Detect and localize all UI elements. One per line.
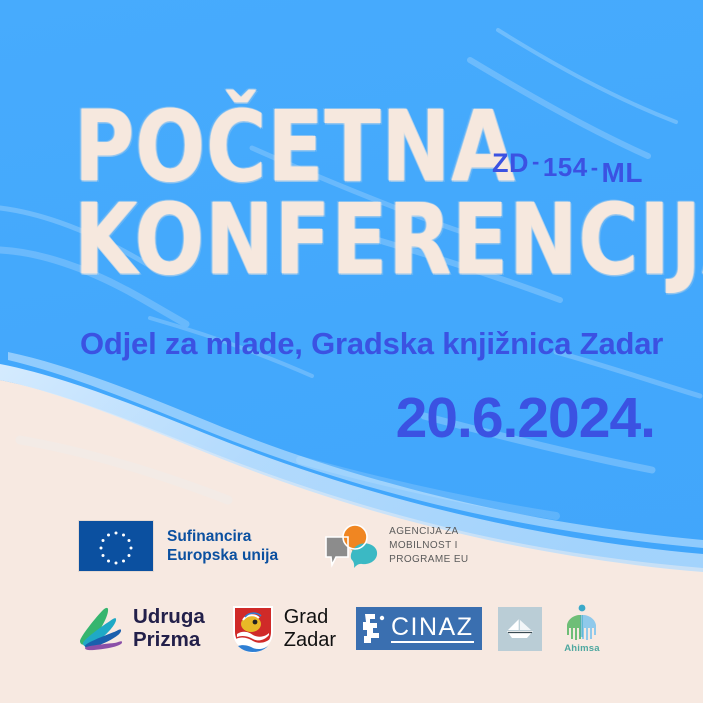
zadar-coat-of-arms-icon [231,604,275,654]
partner-prizma-line-2: Prizma [133,629,205,652]
ahimsa-label: Ahimsa [564,643,600,654]
project-code: ZD-154-ML [492,148,643,189]
project-code-suffix: ML [602,157,643,188]
partner-zadar-line-1: Grad [284,606,336,629]
agency-mobility-text: AGENCIJA ZA MOBILNOST I PROGRAME EU [389,525,468,568]
project-code-dash-2: - [588,155,602,180]
partner-logo-ahimsa: Ahimsa [558,603,606,654]
partner-logo-prizma: Udruga Prizma [78,605,205,653]
partner-prizma-text: Udruga Prizma [133,606,205,652]
cinaz-box: CINAZ [356,607,482,650]
two-people-icon [558,603,606,645]
partner-zadar-text: Grad Zadar [284,606,336,652]
eu-funding-logo: Sufinancira Europska unija [78,520,278,572]
project-code-dash-1: - [529,149,543,174]
poster-canvas: POČETNA KONFERENCIJA ZD-154-ML Odjel za … [0,0,703,703]
paper-boat-box [498,607,542,651]
zadar-map-icon [361,612,387,646]
agency-line-1: AGENCIJA ZA [389,525,468,539]
eu-funding-line-1: Sufinancira [167,527,278,546]
eu-funding-text: Sufinancira Europska unija [167,527,278,566]
project-code-city: ZD [492,148,529,178]
cinaz-label: CINAZ [391,615,474,643]
partner-logo-grad-zadar: Grad Zadar [231,604,336,654]
agency-line-3: PROGRAME EU [389,553,468,567]
partner-logos-row: Udruga Prizma Grad Zadar [78,603,606,654]
prism-fan-icon [78,605,124,653]
eu-funding-line-2: Europska unija [167,546,278,565]
partner-zadar-line-2: Zadar [284,629,336,652]
partner-logo-cinaz: CINAZ [356,607,482,650]
agency-mobility-logo: AGENCIJA ZA MOBILNOST I PROGRAME EU [324,523,468,569]
partner-logo-paper-boat [498,607,542,651]
agency-line-2: MOBILNOST I [389,539,468,553]
event-date: 20.6.2024. [396,385,655,451]
eu-flag-icon [78,520,154,572]
paper-boat-icon [505,617,535,641]
project-code-number: 154 [543,152,588,182]
subtitle-venue: Odjel za mlade, Gradska knjižnica Zadar [80,326,663,362]
headline-line-2: KONFERENCIJA [74,197,665,283]
partner-prizma-line-1: Udruga [133,606,205,629]
funding-logos-row: Sufinancira Europska unija AGENCIJA ZA [78,520,469,572]
speech-bubbles-icon [324,523,380,569]
